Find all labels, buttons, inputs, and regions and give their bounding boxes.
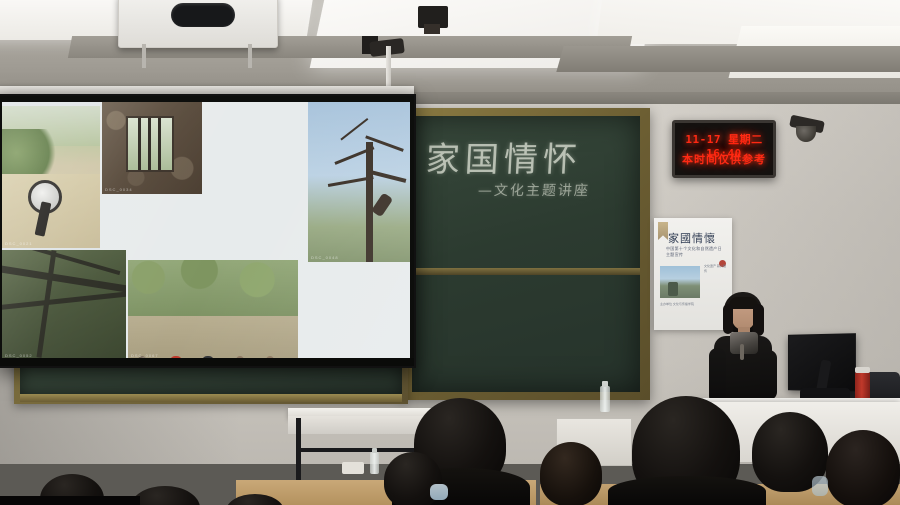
screen-bottom-bar (0, 358, 414, 366)
projector-mount-rod-left (142, 44, 146, 68)
poster-title: 家國情懷 (668, 230, 728, 246)
ceiling-projector (118, 0, 278, 48)
table-crossbar (300, 448, 424, 452)
presenter (706, 292, 780, 412)
audience-head-8 (130, 486, 200, 505)
slide-photo-stone-window: DSC_0034 (102, 102, 202, 194)
presenter-necklace (740, 344, 744, 360)
face-mask-icon-1 (430, 484, 448, 500)
blackboard-subtitle: —文化主题讲座 (477, 180, 658, 200)
window-bar-2 (148, 118, 151, 170)
window-bar-1 (138, 118, 141, 170)
poster-body: 文化遗产 薪火相传 (704, 264, 728, 274)
photo-watermark: DSC_0048 (311, 255, 339, 260)
audience-head-3 (540, 442, 602, 505)
tree-trunk (366, 142, 373, 262)
projected-slide: DSC_0021 DSC_0034 (2, 102, 410, 360)
slide-photo-fallen-branches: DSC_0052 (2, 250, 126, 360)
presenter-scarf (730, 332, 758, 354)
water-bottle-desk (370, 452, 379, 474)
chalk-ledge (20, 394, 402, 402)
presenter-hair-left (723, 304, 733, 334)
branch-2 (2, 291, 126, 311)
ceiling-beam-2 (556, 46, 900, 72)
desk-item-box (342, 462, 364, 474)
projector-mount-rod-right (248, 44, 252, 68)
slide-photo-watch-on-path: DSC_0021 (2, 106, 100, 248)
slide-photo-bare-tree: DSC_0048 (308, 102, 410, 262)
poster-image (660, 266, 700, 298)
audience-shoulder-4 (608, 476, 766, 505)
photo-bush (2, 129, 65, 177)
tree-branch-5 (340, 118, 368, 141)
blackboard: 家国情怀 —文化主题讲座 (404, 108, 650, 400)
lecture-hall-scene: 家国情怀 —文化主题讲座 DSC_0021 (0, 0, 900, 505)
photo-watermark: DSC_0021 (5, 241, 33, 246)
tree-stub (371, 192, 393, 217)
photo-foliage (128, 260, 298, 318)
water-bottle-ledge (600, 386, 610, 412)
poster-subtitle: 中国第十个文化和自然遗产日主题宣传 (666, 246, 726, 258)
photo-window-opening (126, 116, 174, 172)
blackboard-title: 家国情怀 (425, 132, 628, 181)
led-clock: 11-17 星期二 16:40 本时间仅供参考 (672, 120, 776, 178)
blackboard-surface: 家国情怀 —文化主题讲座 (412, 116, 640, 392)
audience-head-6 (826, 430, 900, 505)
slide-photo-group: DSC_0067 (128, 260, 298, 360)
ribbon-icon (658, 222, 668, 240)
face-mask-icon-2 (812, 476, 828, 496)
ceiling-camera (418, 6, 448, 28)
foreground-silhouette (0, 496, 140, 505)
projector-lens-icon (171, 3, 235, 27)
presenter-arm-right (760, 350, 777, 400)
presenter-arm-left (709, 348, 726, 404)
photo-watermark: DSC_0034 (105, 187, 133, 192)
window-bar-3 (158, 118, 161, 170)
blackboard-panel-divider (412, 268, 640, 275)
projection-screen[interactable]: DSC_0021 DSC_0034 (0, 94, 416, 368)
led-clock-line2: 本时间仅供参考 (675, 151, 773, 167)
